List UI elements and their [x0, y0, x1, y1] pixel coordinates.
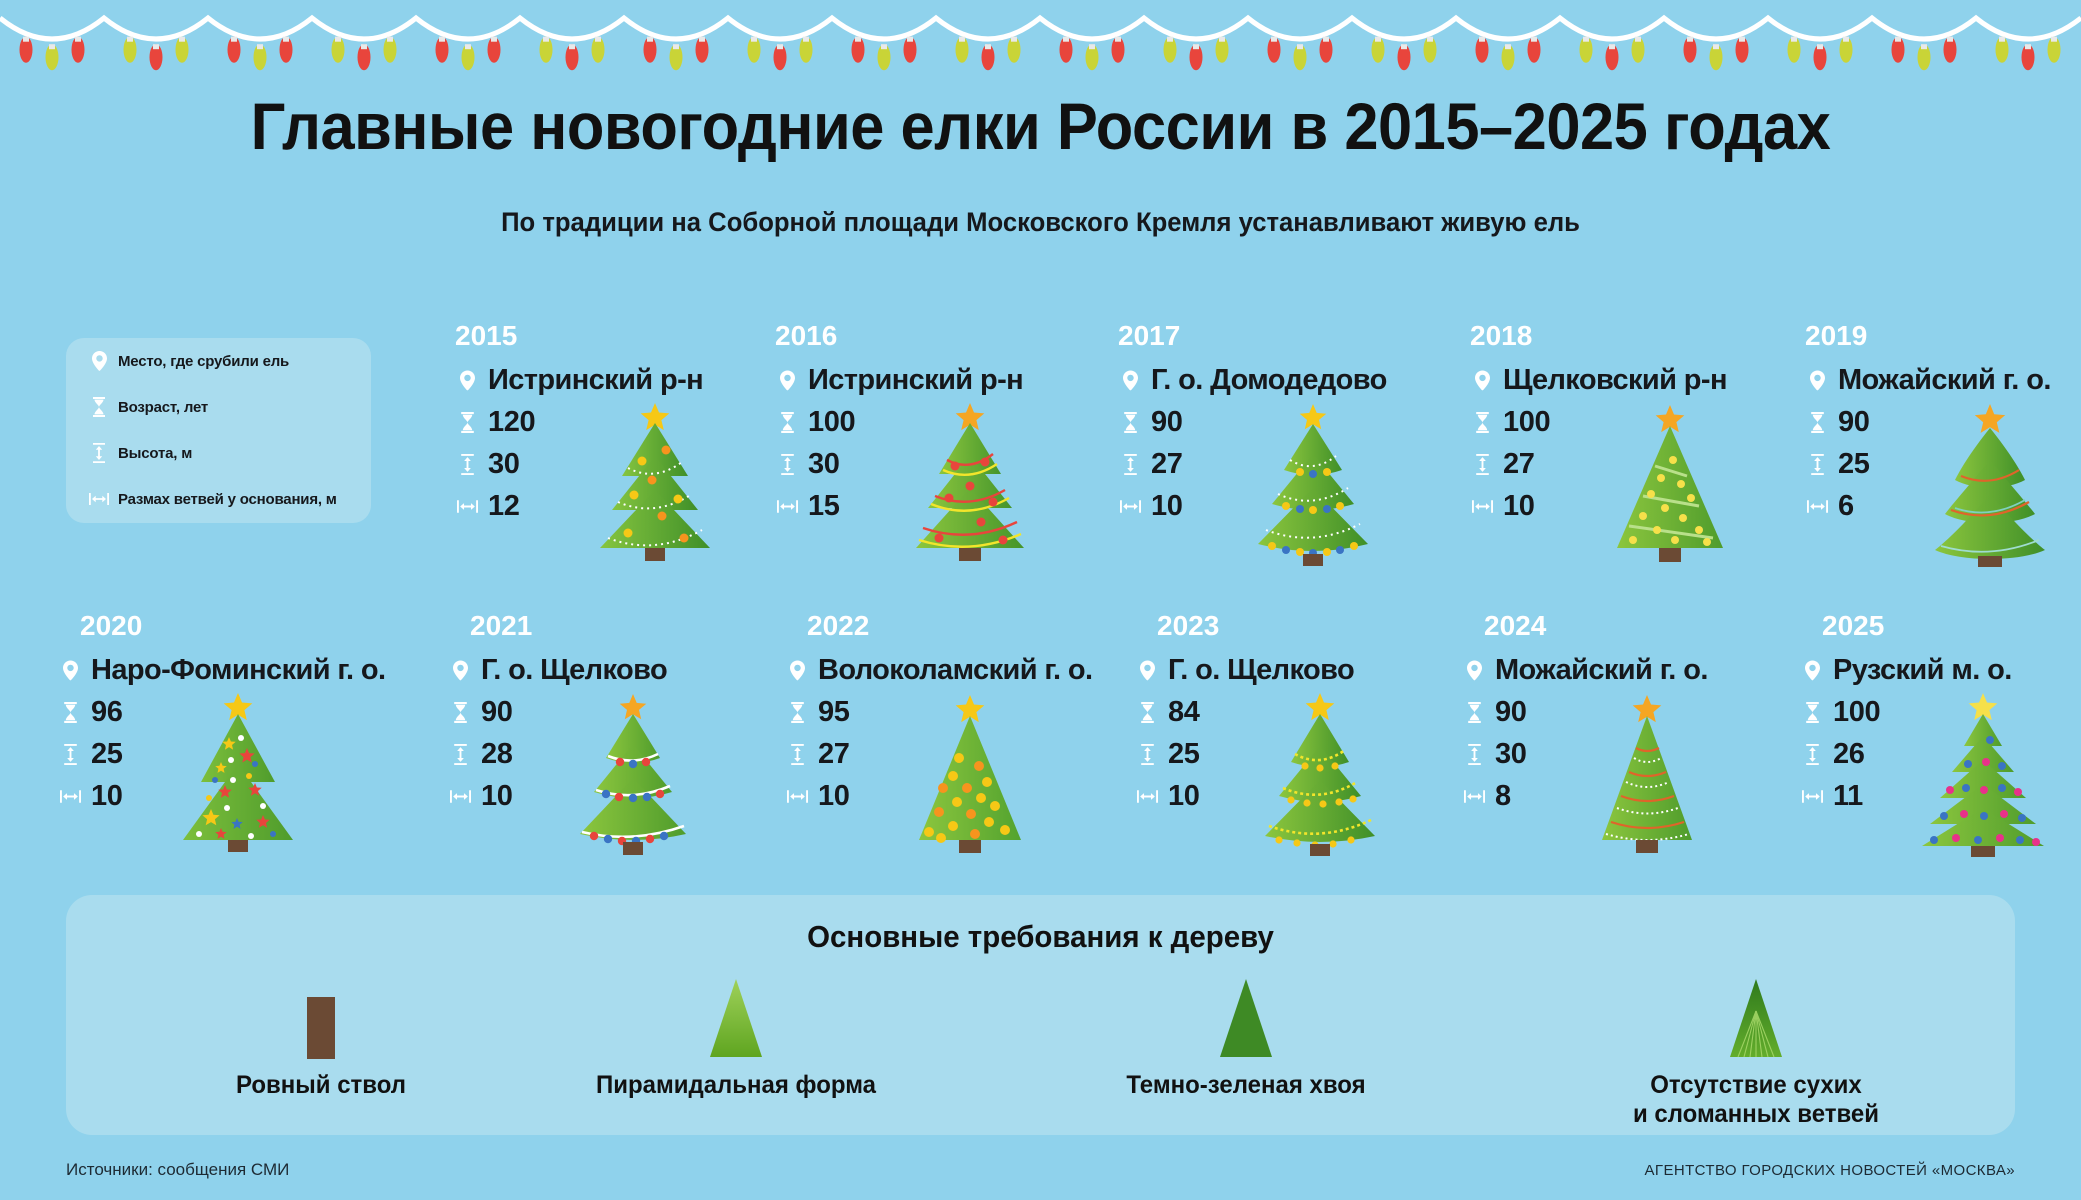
hourglass-icon [1805, 412, 1829, 433]
hourglass-icon [1470, 412, 1494, 433]
no-broken-branches-icon [1586, 977, 1926, 1059]
card-height: 25 [91, 738, 122, 771]
card-age: 95 [818, 696, 849, 729]
card-spread-row: 10 [1135, 775, 1465, 817]
card-spread: 10 [1151, 490, 1182, 523]
requirement-needles: Темно-зеленая хвоя [1076, 977, 1416, 1100]
card-year: 2017 [1118, 320, 1448, 352]
card-age: 84 [1168, 696, 1199, 729]
card-place: Истринский р-н [488, 364, 703, 397]
map-pin-icon [785, 660, 809, 681]
dark-green-needles-icon [1076, 977, 1416, 1059]
card-height-row: 26 [1800, 733, 2081, 775]
card-place: Рузский м. о. [1833, 654, 2012, 687]
map-pin-icon [448, 660, 472, 681]
card-place: Г. о. Домодедово [1151, 364, 1387, 397]
map-pin-icon [1805, 370, 1829, 391]
requirement-label: Темно-зеленая хвоя [1083, 1071, 1409, 1100]
card-year: 2025 [1822, 610, 2081, 642]
card-height: 28 [481, 738, 512, 771]
card-place-row: Истринский р-н [455, 359, 785, 401]
tree-card-2022: 2022 Волоколамский г. о. 95 27 10 [785, 610, 1115, 817]
map-pin-icon [775, 370, 799, 391]
sources-note: Источники: сообщения СМИ [66, 1160, 289, 1180]
height-arrow-icon [58, 744, 82, 765]
card-year: 2019 [1805, 320, 2081, 352]
card-place-row: Г. о. Щелково [1135, 649, 1465, 691]
width-arrow-icon [1118, 500, 1142, 513]
width-arrow-icon [1135, 790, 1159, 803]
card-spread-row: 10 [448, 775, 778, 817]
map-pin-icon [58, 660, 82, 681]
card-age: 90 [1151, 406, 1182, 439]
width-arrow-icon [1470, 500, 1494, 513]
hourglass-icon [1118, 412, 1142, 433]
card-age-row: 96 [58, 691, 388, 733]
requirements-items: Ровный ствол Пирамидальная форма Темно-з… [66, 955, 2015, 1115]
card-spread: 10 [481, 780, 512, 813]
width-arrow-icon [58, 790, 82, 803]
card-spread-row: 6 [1805, 485, 2081, 527]
card-height-row: 28 [448, 733, 778, 775]
tree-card-2024: 2024 Можайский г. о. 90 30 8 [1462, 610, 1792, 817]
card-spread-row: 10 [1470, 485, 1800, 527]
card-height-row: 30 [775, 443, 1105, 485]
hourglass-icon [1462, 702, 1486, 723]
height-arrow-icon [455, 454, 479, 475]
height-arrow-icon [1800, 744, 1824, 765]
card-spread: 11 [1833, 780, 1863, 813]
card-spread: 10 [91, 780, 122, 813]
page-title: Главные новогодние елки России в 2015–20… [73, 88, 2008, 164]
map-pin-icon [1470, 370, 1494, 391]
card-height-row: 30 [1462, 733, 1792, 775]
card-place: Г. о. Щелково [481, 654, 667, 687]
card-age-row: 90 [448, 691, 778, 733]
card-year: 2015 [455, 320, 785, 352]
card-age-row: 90 [1805, 401, 2081, 443]
width-arrow-icon [1800, 790, 1824, 803]
width-arrow-icon [448, 790, 472, 803]
card-place: Можайский г. о. [1838, 364, 2051, 397]
card-age-row: 100 [775, 401, 1105, 443]
hourglass-icon [775, 412, 799, 433]
map-pin-icon [1118, 370, 1142, 391]
card-height: 27 [1151, 448, 1182, 481]
card-height-row: 30 [455, 443, 785, 485]
card-place: Щелковский р-н [1503, 364, 1727, 397]
width-arrow-icon [785, 790, 809, 803]
requirement-label: Ровный ствол [158, 1071, 484, 1100]
card-year: 2023 [1157, 610, 1465, 642]
card-place-row: Щелковский р-н [1470, 359, 1800, 401]
trunk-icon [151, 977, 491, 1059]
card-place-row: Г. о. Щелково [448, 649, 778, 691]
card-spread-row: 15 [775, 485, 1105, 527]
map-pin-icon [455, 370, 479, 391]
card-spread: 12 [488, 490, 519, 523]
tree-card-2023: 2023 Г. о. Щелково 84 25 10 [1135, 610, 1465, 817]
width-arrow-icon [1805, 500, 1829, 513]
card-age-row: 95 [785, 691, 1115, 733]
card-age-row: 100 [1470, 401, 1800, 443]
card-age: 90 [481, 696, 512, 729]
card-year: 2022 [807, 610, 1115, 642]
card-spread-row: 10 [785, 775, 1115, 817]
card-year: 2020 [80, 610, 388, 642]
card-year: 2024 [1484, 610, 1792, 642]
height-arrow-icon [775, 454, 799, 475]
card-height-row: 27 [1118, 443, 1448, 485]
card-height: 27 [1503, 448, 1534, 481]
tree-card-2017: 2017 Г. о. Домодедово 90 27 10 [1118, 320, 1448, 527]
card-spread: 15 [808, 490, 839, 523]
card-height: 30 [808, 448, 839, 481]
tree-card-2025: 2025 Рузский м. о. 100 26 11 [1800, 610, 2081, 817]
map-pin-icon [1462, 660, 1486, 681]
garland-decoration [0, 0, 2081, 75]
card-year: 2016 [775, 320, 1105, 352]
tree-card-2016: 2016 Истринский р-н 100 30 15 [775, 320, 1105, 527]
requirements-panel: Основные требования к дереву Ровный ство… [66, 895, 2015, 1135]
requirement-label: Отсутствие сухих и сломанных ветвей [1593, 1071, 1919, 1130]
width-arrow-icon [775, 500, 799, 513]
hourglass-icon [455, 412, 479, 433]
card-height: 30 [488, 448, 519, 481]
card-place-row: Можайский г. о. [1462, 649, 1792, 691]
card-age-row: 90 [1462, 691, 1792, 733]
requirements-title: Основные требования к дереву [115, 895, 1967, 955]
tree-card-2018: 2018 Щелковский р-н 100 27 10 [1470, 320, 1800, 527]
map-pin-icon [1135, 660, 1159, 681]
card-age: 100 [1503, 406, 1550, 439]
card-year: 2021 [470, 610, 778, 642]
card-spread-row: 10 [1118, 485, 1448, 527]
width-arrow-icon [1462, 790, 1486, 803]
tree-card-2020: 2020 Наро-Фоминский г. о. 96 25 10 [58, 610, 388, 817]
card-height-row: 25 [58, 733, 388, 775]
requirement-no-broken-branches: Отсутствие сухих и сломанных ветвей [1586, 977, 1926, 1130]
trees-grid: 2015 Истринский р-н 120 30 12 2016 [0, 320, 2081, 880]
card-year: 2018 [1470, 320, 1800, 352]
tree-card-2015: 2015 Истринский р-н 120 30 12 [455, 320, 785, 527]
hourglass-icon [785, 702, 809, 723]
card-age: 90 [1495, 696, 1526, 729]
height-arrow-icon [1118, 454, 1142, 475]
hourglass-icon [1800, 702, 1824, 723]
card-age-row: 100 [1800, 691, 2081, 733]
card-spread: 8 [1495, 780, 1511, 813]
card-height: 27 [818, 738, 849, 771]
card-height-row: 25 [1135, 733, 1465, 775]
requirement-trunk: Ровный ствол [151, 977, 491, 1100]
pyramid-shape-icon [566, 977, 906, 1059]
card-age-row: 84 [1135, 691, 1465, 733]
card-place: Можайский г. о. [1495, 654, 1708, 687]
card-height-row: 27 [1470, 443, 1800, 485]
agency-credit: АГЕНТСТВО ГОРОДСКИХ НОВОСТЕЙ «МОСКВА» [1645, 1162, 2015, 1179]
card-place-row: Наро-Фоминский г. о. [58, 649, 388, 691]
width-arrow-icon [455, 500, 479, 513]
height-arrow-icon [785, 744, 809, 765]
card-place: Волоколамский г. о. [818, 654, 1092, 687]
requirement-pyramid: Пирамидальная форма [566, 977, 906, 1100]
card-age-row: 90 [1118, 401, 1448, 443]
card-place: Г. о. Щелково [1168, 654, 1354, 687]
card-age: 96 [91, 696, 122, 729]
trees-row-2: 2020 Наро-Фоминский г. о. 96 25 10 2021 [0, 610, 2081, 880]
card-place-row: Волоколамский г. о. [785, 649, 1115, 691]
height-arrow-icon [1135, 744, 1159, 765]
card-height: 25 [1168, 738, 1199, 771]
card-place-row: Можайский г. о. [1805, 359, 2081, 401]
card-age: 90 [1838, 406, 1869, 439]
card-spread: 6 [1838, 490, 1854, 523]
card-height: 30 [1495, 738, 1526, 771]
height-arrow-icon [1462, 744, 1486, 765]
hourglass-icon [448, 702, 472, 723]
card-height-row: 25 [1805, 443, 2081, 485]
card-height-row: 27 [785, 733, 1115, 775]
map-pin-icon [1800, 660, 1824, 681]
hourglass-icon [58, 702, 82, 723]
card-spread-row: 10 [58, 775, 388, 817]
card-age: 100 [1833, 696, 1880, 729]
card-spread-row: 8 [1462, 775, 1792, 817]
card-age: 100 [808, 406, 855, 439]
tree-card-2019: 2019 Можайский г. о. 90 25 6 [1805, 320, 2081, 527]
card-spread: 10 [818, 780, 849, 813]
card-age-row: 120 [455, 401, 785, 443]
requirement-label: Пирамидальная форма [573, 1071, 899, 1100]
height-arrow-icon [1805, 454, 1829, 475]
card-place-row: Г. о. Домодедово [1118, 359, 1448, 401]
card-spread-row: 11 [1800, 775, 2081, 817]
tree-card-2021: 2021 Г. о. Щелково 90 28 10 [448, 610, 778, 817]
card-place: Истринский р-н [808, 364, 1023, 397]
hourglass-icon [1135, 702, 1159, 723]
card-place-row: Истринский р-н [775, 359, 1105, 401]
card-place: Наро-Фоминский г. о. [91, 654, 385, 687]
height-arrow-icon [1470, 454, 1494, 475]
card-place-row: Рузский м. о. [1800, 649, 2081, 691]
card-spread: 10 [1168, 780, 1199, 813]
card-height: 26 [1833, 738, 1864, 771]
card-spread-row: 12 [455, 485, 785, 527]
card-height: 25 [1838, 448, 1869, 481]
card-spread: 10 [1503, 490, 1534, 523]
card-age: 120 [488, 406, 535, 439]
trees-row-1: 2015 Истринский р-н 120 30 12 2016 [0, 320, 2081, 590]
height-arrow-icon [448, 744, 472, 765]
page-subtitle: По традиции на Соборной площади Московск… [52, 207, 2029, 238]
